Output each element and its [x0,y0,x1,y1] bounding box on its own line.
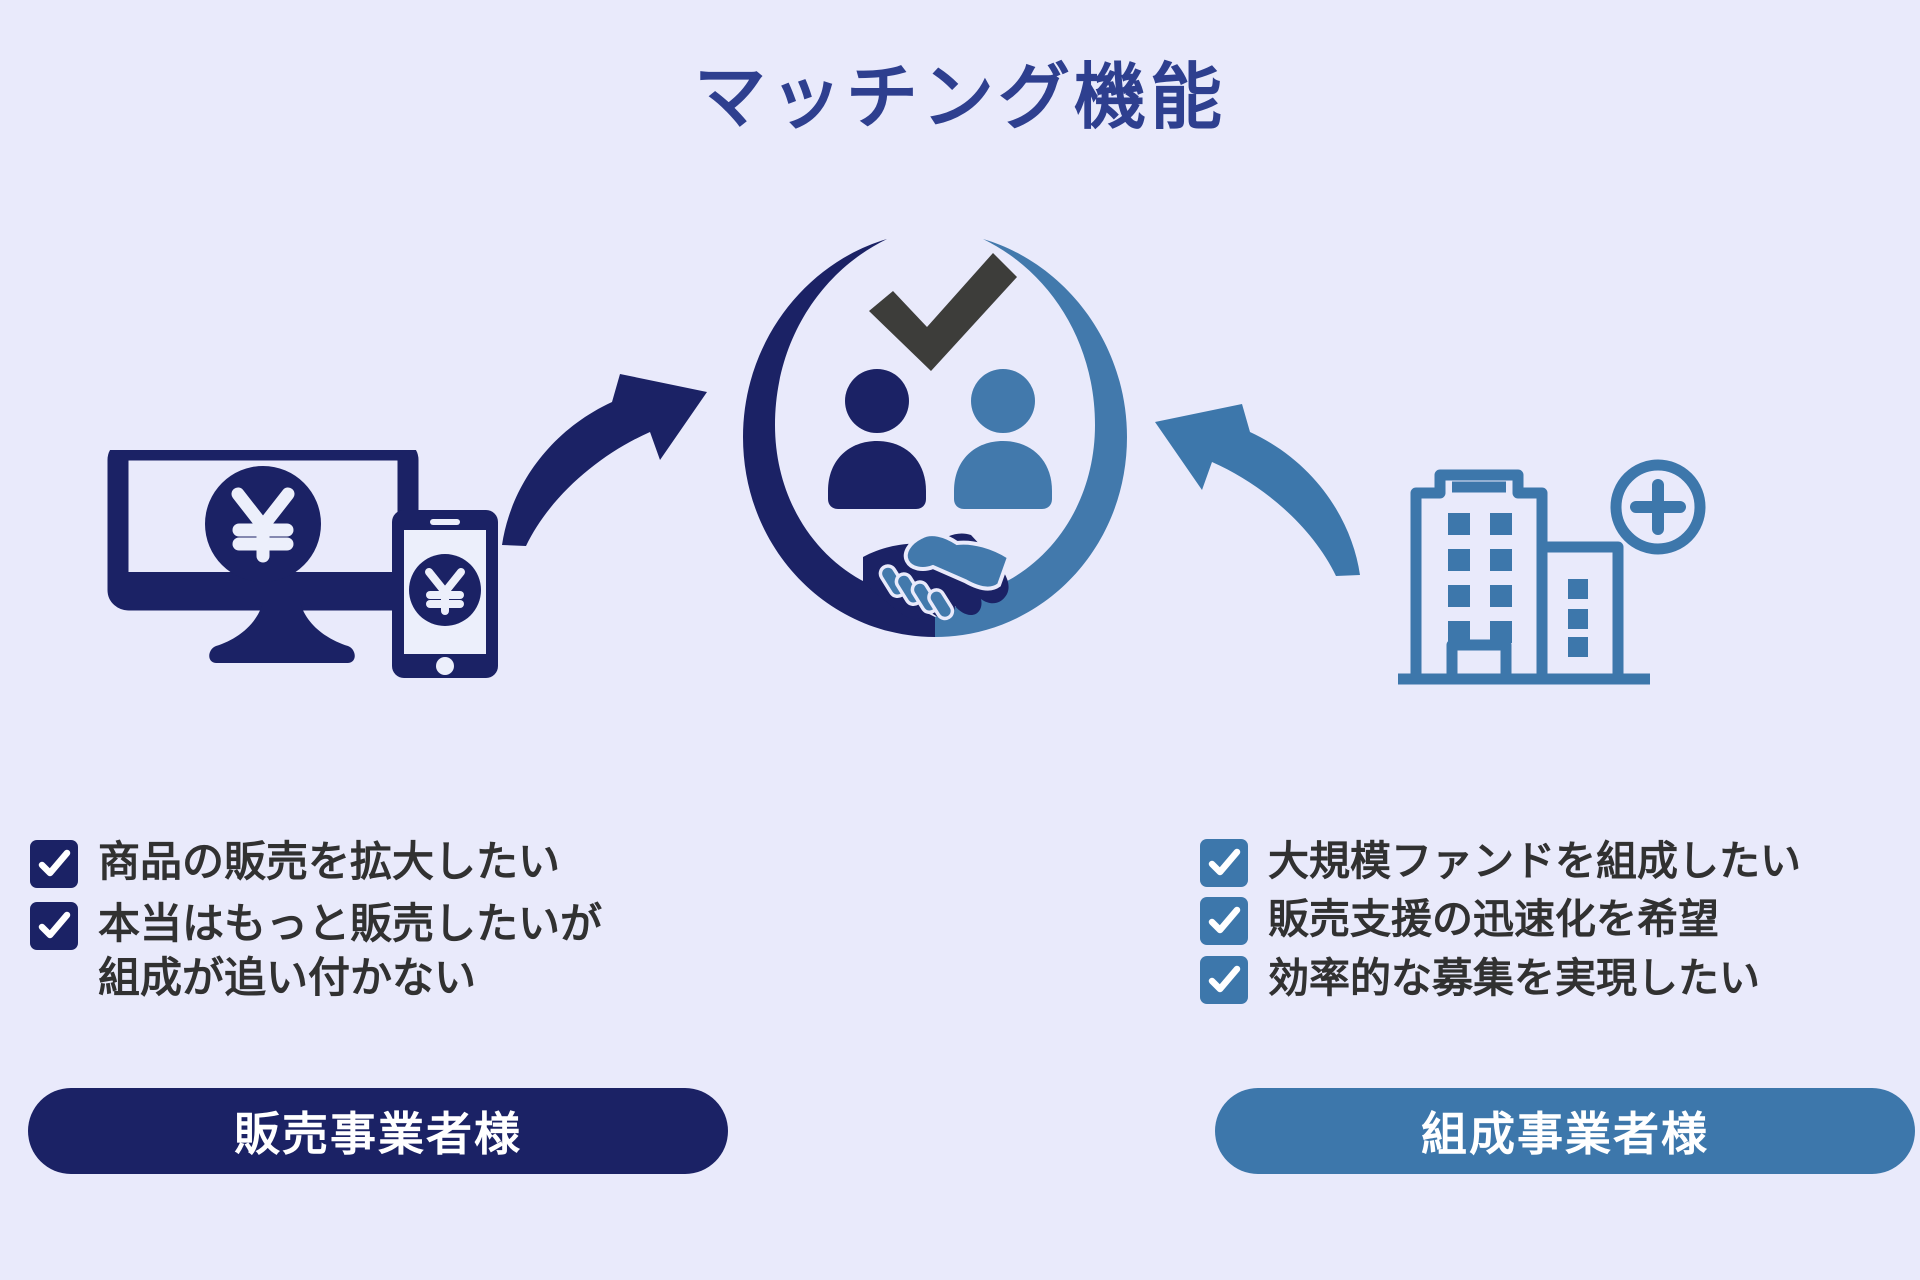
list-item: 商品の販売を拡大したい [30,835,770,889]
list-item-label: 本当はもっと販売したいが 組成が追い付かない [98,897,602,1005]
checkbox-checked-icon [1200,897,1248,945]
office-building-plus-icon [1390,455,1740,695]
list-item: 本当はもっと販売したいが 組成が追い付かない [30,897,770,1005]
checkbox-checked-icon [1200,956,1248,1004]
curved-arrow-up-left-icon [1140,370,1370,580]
monitor-smartphone-yen-icon [100,450,520,690]
handshake-partnership-circle-icon [735,225,1135,645]
list-item-label: 販売支援の迅速化を希望 [1268,893,1719,945]
list-item: 大規模ファンドを組成したい [1200,835,1920,887]
check-mark-icon [869,253,1017,371]
seller-checklist: 商品の販売を拡大したい 本当はもっと販売したいが 組成が追い付かない [30,835,770,1012]
list-item-label: 商品の販売を拡大したい [98,835,560,889]
arranger-checklist: 大規模ファンドを組成したい 販売支援の迅速化を希望 効率的な募集を実現したい [1200,835,1920,1010]
list-item: 販売支援の迅速化を希望 [1200,893,1920,945]
matching-feature-diagram: マッチング機能 [0,0,1920,1280]
list-item-label: 大規模ファンドを組成したい [1268,835,1801,887]
curved-arrow-up-right-icon [492,340,722,550]
list-item: 効率的な募集を実現したい [1200,952,1920,1004]
list-item-label: 効率的な募集を実現したい [1268,952,1760,1004]
checkbox-checked-icon [1200,839,1248,887]
arranger-label-pill[interactable]: 組成事業者様 [1215,1088,1915,1174]
page-title: マッチング機能 [0,62,1920,134]
person-blue-icon [954,369,1052,509]
person-navy-icon [828,369,926,509]
seller-label-pill[interactable]: 販売事業者様 [28,1088,728,1174]
checkbox-checked-icon [30,902,78,950]
checkbox-checked-icon [30,840,78,888]
